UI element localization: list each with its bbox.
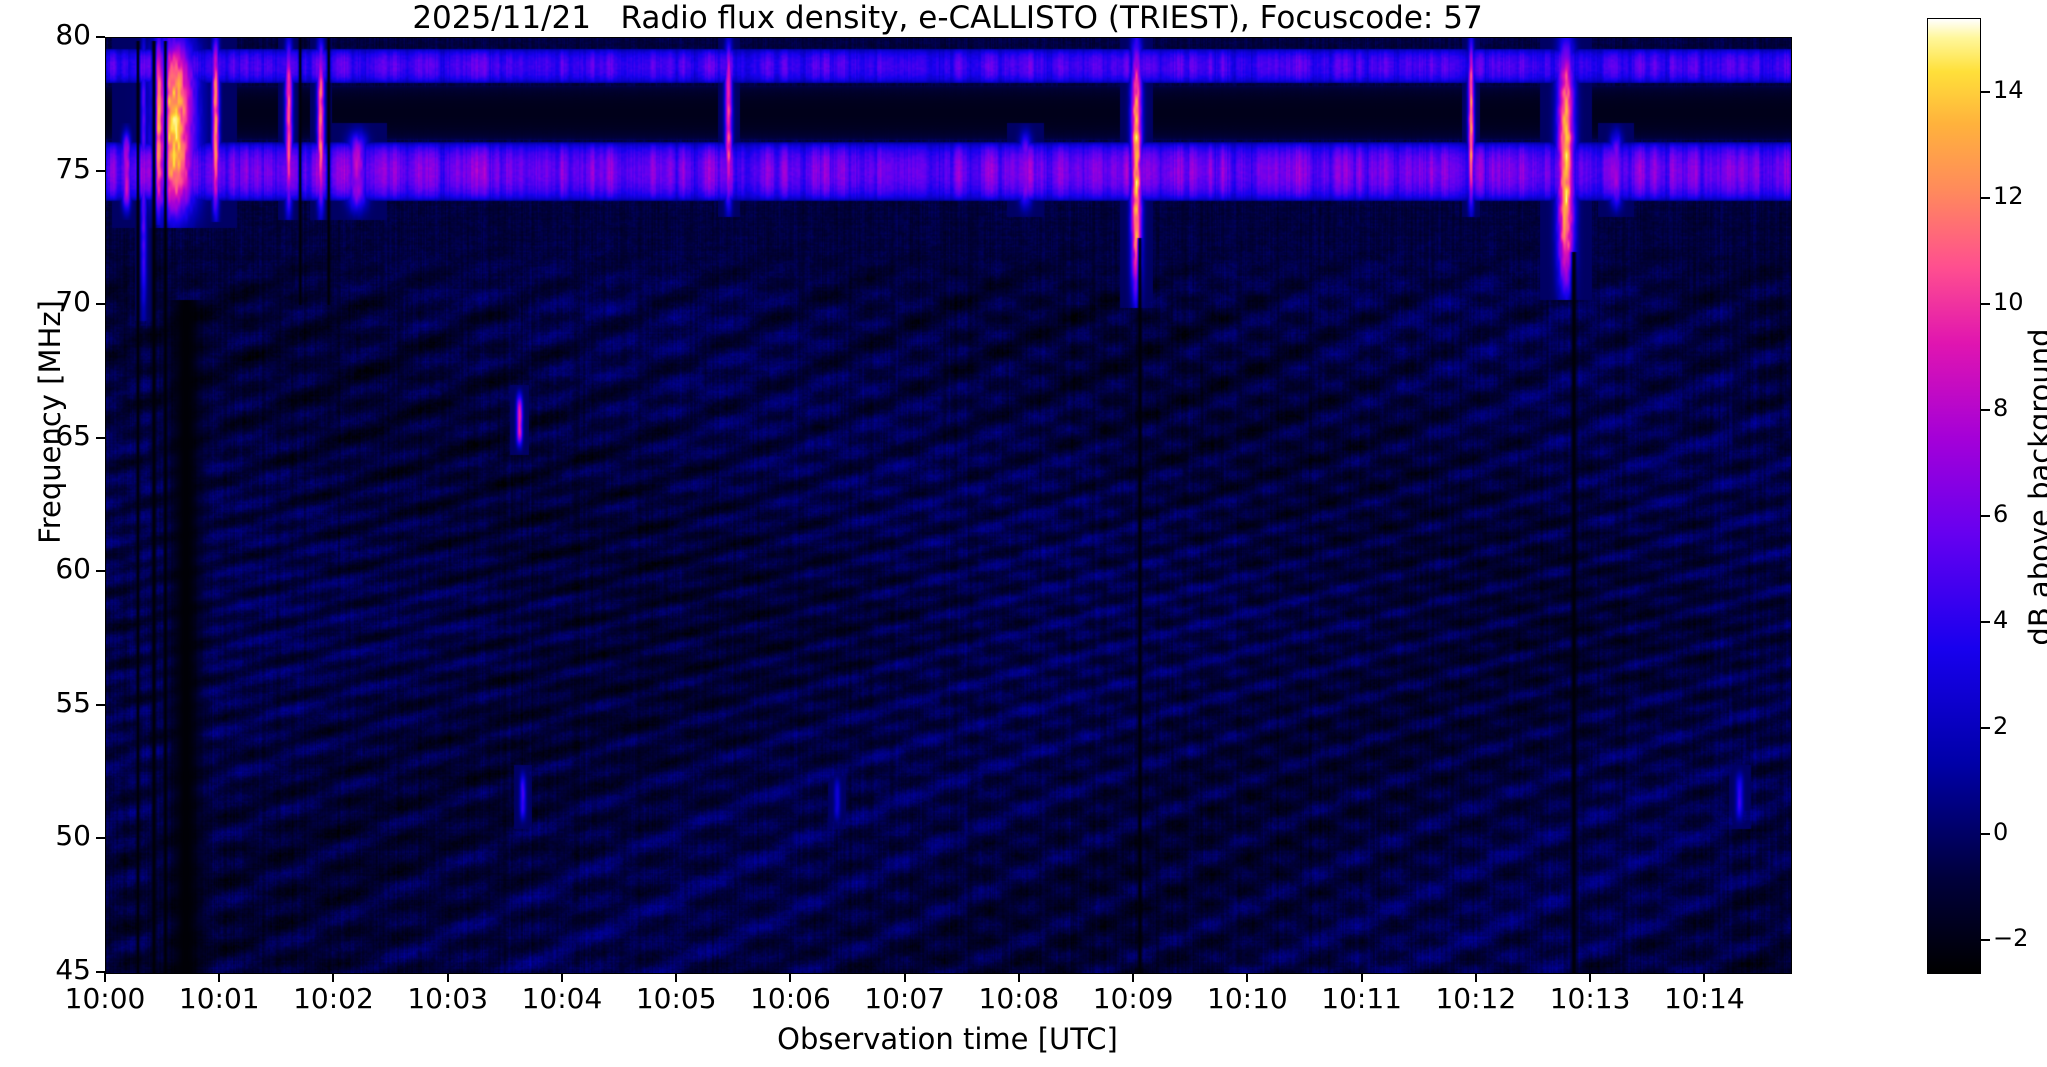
y-tick-mark <box>96 170 105 172</box>
colorbar-tick-label: 2 <box>1993 712 2008 740</box>
y-tick-mark <box>96 570 105 572</box>
colorbar-tick-label: 8 <box>1993 394 2008 422</box>
y-tick-mark <box>96 837 105 839</box>
colorbar-tick-label: −2 <box>1993 924 2028 952</box>
colorbar-tick-mark <box>1981 833 1990 835</box>
x-tick-mark <box>904 973 906 982</box>
spectrogram-plot[interactable] <box>105 37 1792 974</box>
y-tick-label: 70 <box>55 285 91 318</box>
colorbar-tick-label: 10 <box>1993 288 2024 316</box>
x-tick-mark <box>1132 973 1134 982</box>
y-tick-label: 60 <box>55 552 91 585</box>
x-tick-mark <box>789 973 791 982</box>
colorbar-tick-label: 6 <box>1993 500 2008 528</box>
colorbar[interactable] <box>1927 18 1981 974</box>
spectrogram-image <box>106 38 1791 973</box>
x-tick-mark <box>561 973 563 982</box>
x-tick-mark <box>218 973 220 982</box>
y-tick-label: 80 <box>55 18 91 51</box>
colorbar-gradient <box>1928 19 1980 973</box>
y-tick-label: 75 <box>55 152 91 185</box>
x-tick-mark <box>1018 973 1020 982</box>
x-tick-mark <box>1589 973 1591 982</box>
colorbar-tick-mark <box>1981 515 1990 517</box>
colorbar-tick-mark <box>1981 91 1990 93</box>
x-axis-label: Observation time [UTC] <box>105 1022 1790 1056</box>
x-tick-label: 10:14 <box>1634 982 1774 1015</box>
colorbar-tick-mark <box>1981 303 1990 305</box>
y-tick-label: 65 <box>55 419 91 452</box>
y-tick-mark <box>96 437 105 439</box>
colorbar-tick-label: 14 <box>1993 76 2024 104</box>
figure-root: 2025/11/21 Radio flux density, e-CALLIST… <box>0 0 2047 1067</box>
x-tick-mark <box>1246 973 1248 982</box>
x-tick-mark <box>675 973 677 982</box>
x-tick-mark <box>1361 973 1363 982</box>
y-tick-mark <box>96 303 105 305</box>
y-tick-label: 50 <box>55 819 91 852</box>
y-tick-mark <box>96 704 105 706</box>
colorbar-tick-label: 4 <box>1993 606 2008 634</box>
colorbar-label: dB above background <box>2023 277 2047 697</box>
colorbar-tick-label: 0 <box>1993 818 2008 846</box>
colorbar-tick-mark <box>1981 197 1990 199</box>
y-tick-label: 55 <box>55 686 91 719</box>
x-tick-mark <box>1703 973 1705 982</box>
colorbar-tick-mark <box>1981 939 1990 941</box>
y-tick-mark <box>96 36 105 38</box>
page-title: 2025/11/21 Radio flux density, e-CALLIST… <box>105 0 1790 36</box>
colorbar-tick-label: 12 <box>1993 182 2024 210</box>
x-tick-mark <box>104 973 106 982</box>
x-tick-mark <box>447 973 449 982</box>
colorbar-tick-mark <box>1981 727 1990 729</box>
colorbar-tick-mark <box>1981 621 1990 623</box>
x-tick-mark <box>332 973 334 982</box>
colorbar-tick-mark <box>1981 409 1990 411</box>
x-tick-mark <box>1475 973 1477 982</box>
